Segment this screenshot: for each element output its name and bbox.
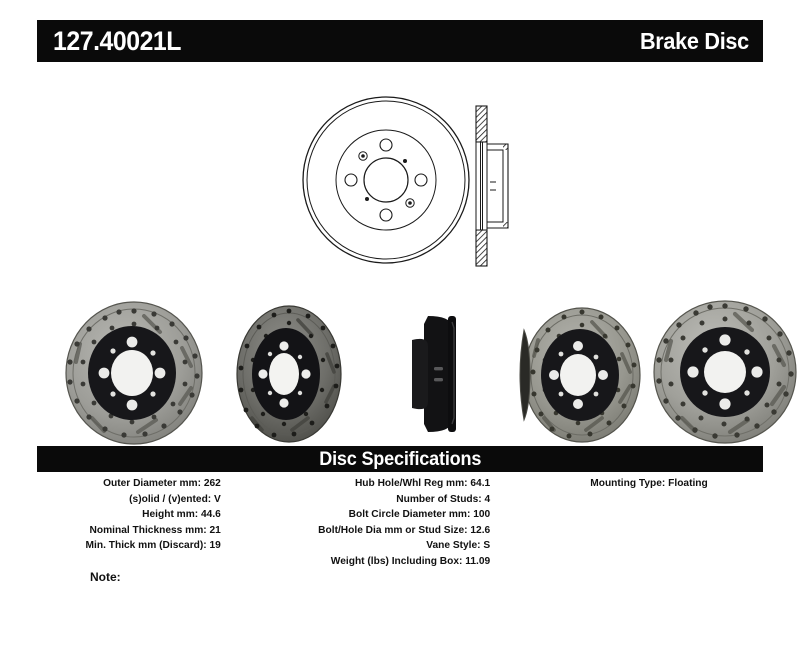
spec-column-2: Hub Hole/Whl Reg mm: 64.1 Number of Stud… (265, 476, 535, 581)
technical-line-drawings (300, 92, 530, 282)
spec-column-3: Mounting Type: Floating (535, 476, 763, 581)
spec-value: 44.6 (201, 508, 221, 520)
spec-value: 19 (210, 539, 221, 551)
spec-value: 4 (485, 493, 491, 505)
spec-value: 12.6 (470, 524, 490, 536)
spec-row: (s)olid / (v)ented: V (40, 492, 261, 508)
spec-row: Bolt/Hole Dia mm or Stud Size: 12.6 (269, 523, 531, 539)
rotor-face-straight (650, 298, 800, 446)
spec-value: S (483, 539, 490, 551)
note-value (121, 570, 125, 584)
spec-label: Height mm: (142, 508, 198, 520)
spec-title-bar: Disc Specifications (37, 446, 763, 472)
spec-label: Outer Diameter mm: (103, 477, 201, 489)
spec-value: V (214, 493, 221, 505)
spec-row: Bolt Circle Diameter mm: 100 (269, 507, 531, 523)
spec-row: Mounting Type: Floating (538, 476, 759, 492)
spec-label: Bolt/Hole Dia mm or Stud Size: (318, 524, 467, 536)
spec-row: Number of Studs: 4 (269, 492, 531, 508)
spec-row: Nominal Thickness mm: 21 (40, 523, 261, 539)
note-label: Note: (90, 570, 121, 584)
rotor-cross-section-line-drawing (476, 106, 508, 266)
spec-value: 64.1 (470, 477, 490, 489)
rotor-edge-profile (398, 312, 480, 436)
spec-label: Min. Thick mm (Discard): (86, 539, 207, 551)
spec-columns: Outer Diameter mm: 262 (s)olid / (v)ente… (37, 476, 763, 581)
spec-row: Weight (lbs) Including Box: 11.09 (269, 554, 531, 570)
spec-label: Mounting Type: (590, 477, 665, 489)
rotor-front-right-angled (226, 304, 352, 444)
product-title: Brake Disc (640, 30, 749, 53)
part-number: 127.40021L (53, 28, 181, 55)
rotor-front-left-angled (58, 300, 210, 446)
spec-value: 262 (204, 477, 221, 489)
spec-row: Hub Hole/Whl Reg mm: 64.1 (269, 476, 531, 492)
spec-value: 11.09 (465, 555, 490, 567)
spec-row: Outer Diameter mm: 262 (40, 476, 261, 492)
note-field: Note: (90, 570, 125, 584)
spec-title: Disc Specifications (319, 450, 481, 469)
spec-label: Bolt Circle Diameter mm: (349, 508, 471, 520)
spec-value: 21 (210, 524, 221, 536)
header-bar: 127.40021L Brake Disc (37, 20, 763, 62)
rotor-photo-row (30, 296, 775, 448)
spec-label: (s)olid / (v)ented: (129, 493, 211, 505)
brake-disc-spec-sheet: 127.40021L Brake Disc (0, 0, 800, 655)
spec-column-1: Outer Diameter mm: 262 (s)olid / (v)ente… (37, 476, 265, 581)
spec-row: Vane Style: S (269, 538, 531, 554)
spec-row: Min. Thick mm (Discard): 19 (40, 538, 261, 554)
spec-label: Hub Hole/Whl Reg mm: (355, 477, 468, 489)
spec-label: Vane Style: (426, 539, 480, 551)
rotor-rear-angled (508, 306, 648, 444)
rotor-face-line-drawing (303, 97, 469, 263)
spec-row: Height mm: 44.6 (40, 507, 261, 523)
spec-label: Nominal Thickness mm: (90, 524, 207, 536)
spec-value: Floating (668, 477, 708, 489)
spec-label: Weight (lbs) Including Box: (331, 555, 463, 567)
spec-label: Number of Studs: (396, 493, 481, 505)
spec-value: 100 (473, 508, 490, 520)
